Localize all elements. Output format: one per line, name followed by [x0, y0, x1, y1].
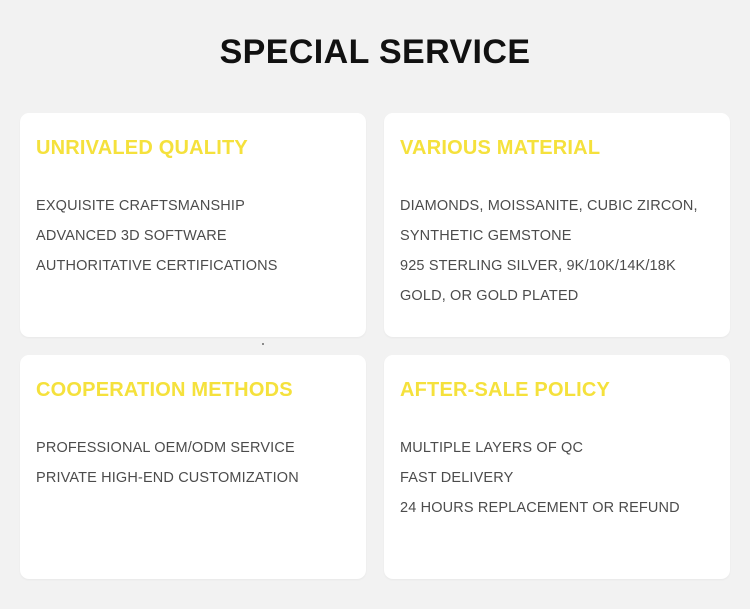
- image-artifact-speck: [262, 343, 264, 345]
- card-line: AUTHORITATIVE CERTIFICATIONS: [36, 251, 350, 281]
- page-title: SPECIAL SERVICE: [0, 31, 750, 73]
- card-heading: VARIOUS MATERIAL: [400, 136, 714, 160]
- service-cards-grid: UNRIVALED QUALITY EXQUISITE CRAFTSMANSHI…: [20, 113, 730, 579]
- card-line: GOLD, OR GOLD PLATED: [400, 281, 714, 311]
- card-body: MULTIPLE LAYERS OF QC FAST DELIVERY 24 H…: [400, 433, 714, 523]
- special-service-page: SPECIAL SERVICE UNRIVALED QUALITY EXQUIS…: [0, 0, 750, 609]
- card-line: SYNTHETIC GEMSTONE: [400, 221, 714, 251]
- card-line: PRIVATE HIGH-END CUSTOMIZATION: [36, 463, 350, 493]
- card-line: ADVANCED 3D SOFTWARE: [36, 221, 350, 251]
- card-heading: COOPERATION METHODS: [36, 378, 350, 402]
- card-line: MULTIPLE LAYERS OF QC: [400, 433, 714, 463]
- card-heading: AFTER-SALE POLICY: [400, 378, 714, 402]
- service-card-unrivaled-quality: UNRIVALED QUALITY EXQUISITE CRAFTSMANSHI…: [20, 113, 366, 337]
- card-body: PROFESSIONAL OEM/ODM SERVICE PRIVATE HIG…: [36, 433, 350, 493]
- card-body: DIAMONDS, MOISSANITE, CUBIC ZIRCON, SYNT…: [400, 191, 714, 311]
- card-line: PROFESSIONAL OEM/ODM SERVICE: [36, 433, 350, 463]
- card-line: EXQUISITE CRAFTSMANSHIP: [36, 191, 350, 221]
- card-line: FAST DELIVERY: [400, 463, 714, 493]
- card-body: EXQUISITE CRAFTSMANSHIP ADVANCED 3D SOFT…: [36, 191, 350, 281]
- service-card-after-sale-policy: AFTER-SALE POLICY MULTIPLE LAYERS OF QC …: [384, 355, 730, 579]
- service-card-cooperation-methods: COOPERATION METHODS PROFESSIONAL OEM/ODM…: [20, 355, 366, 579]
- service-card-various-material: VARIOUS MATERIAL DIAMONDS, MOISSANITE, C…: [384, 113, 730, 337]
- card-line: 925 STERLING SILVER, 9K/10K/14K/18K: [400, 251, 714, 281]
- card-line: DIAMONDS, MOISSANITE, CUBIC ZIRCON,: [400, 191, 714, 221]
- card-line: 24 HOURS REPLACEMENT OR REFUND: [400, 493, 714, 523]
- card-heading: UNRIVALED QUALITY: [36, 136, 350, 160]
